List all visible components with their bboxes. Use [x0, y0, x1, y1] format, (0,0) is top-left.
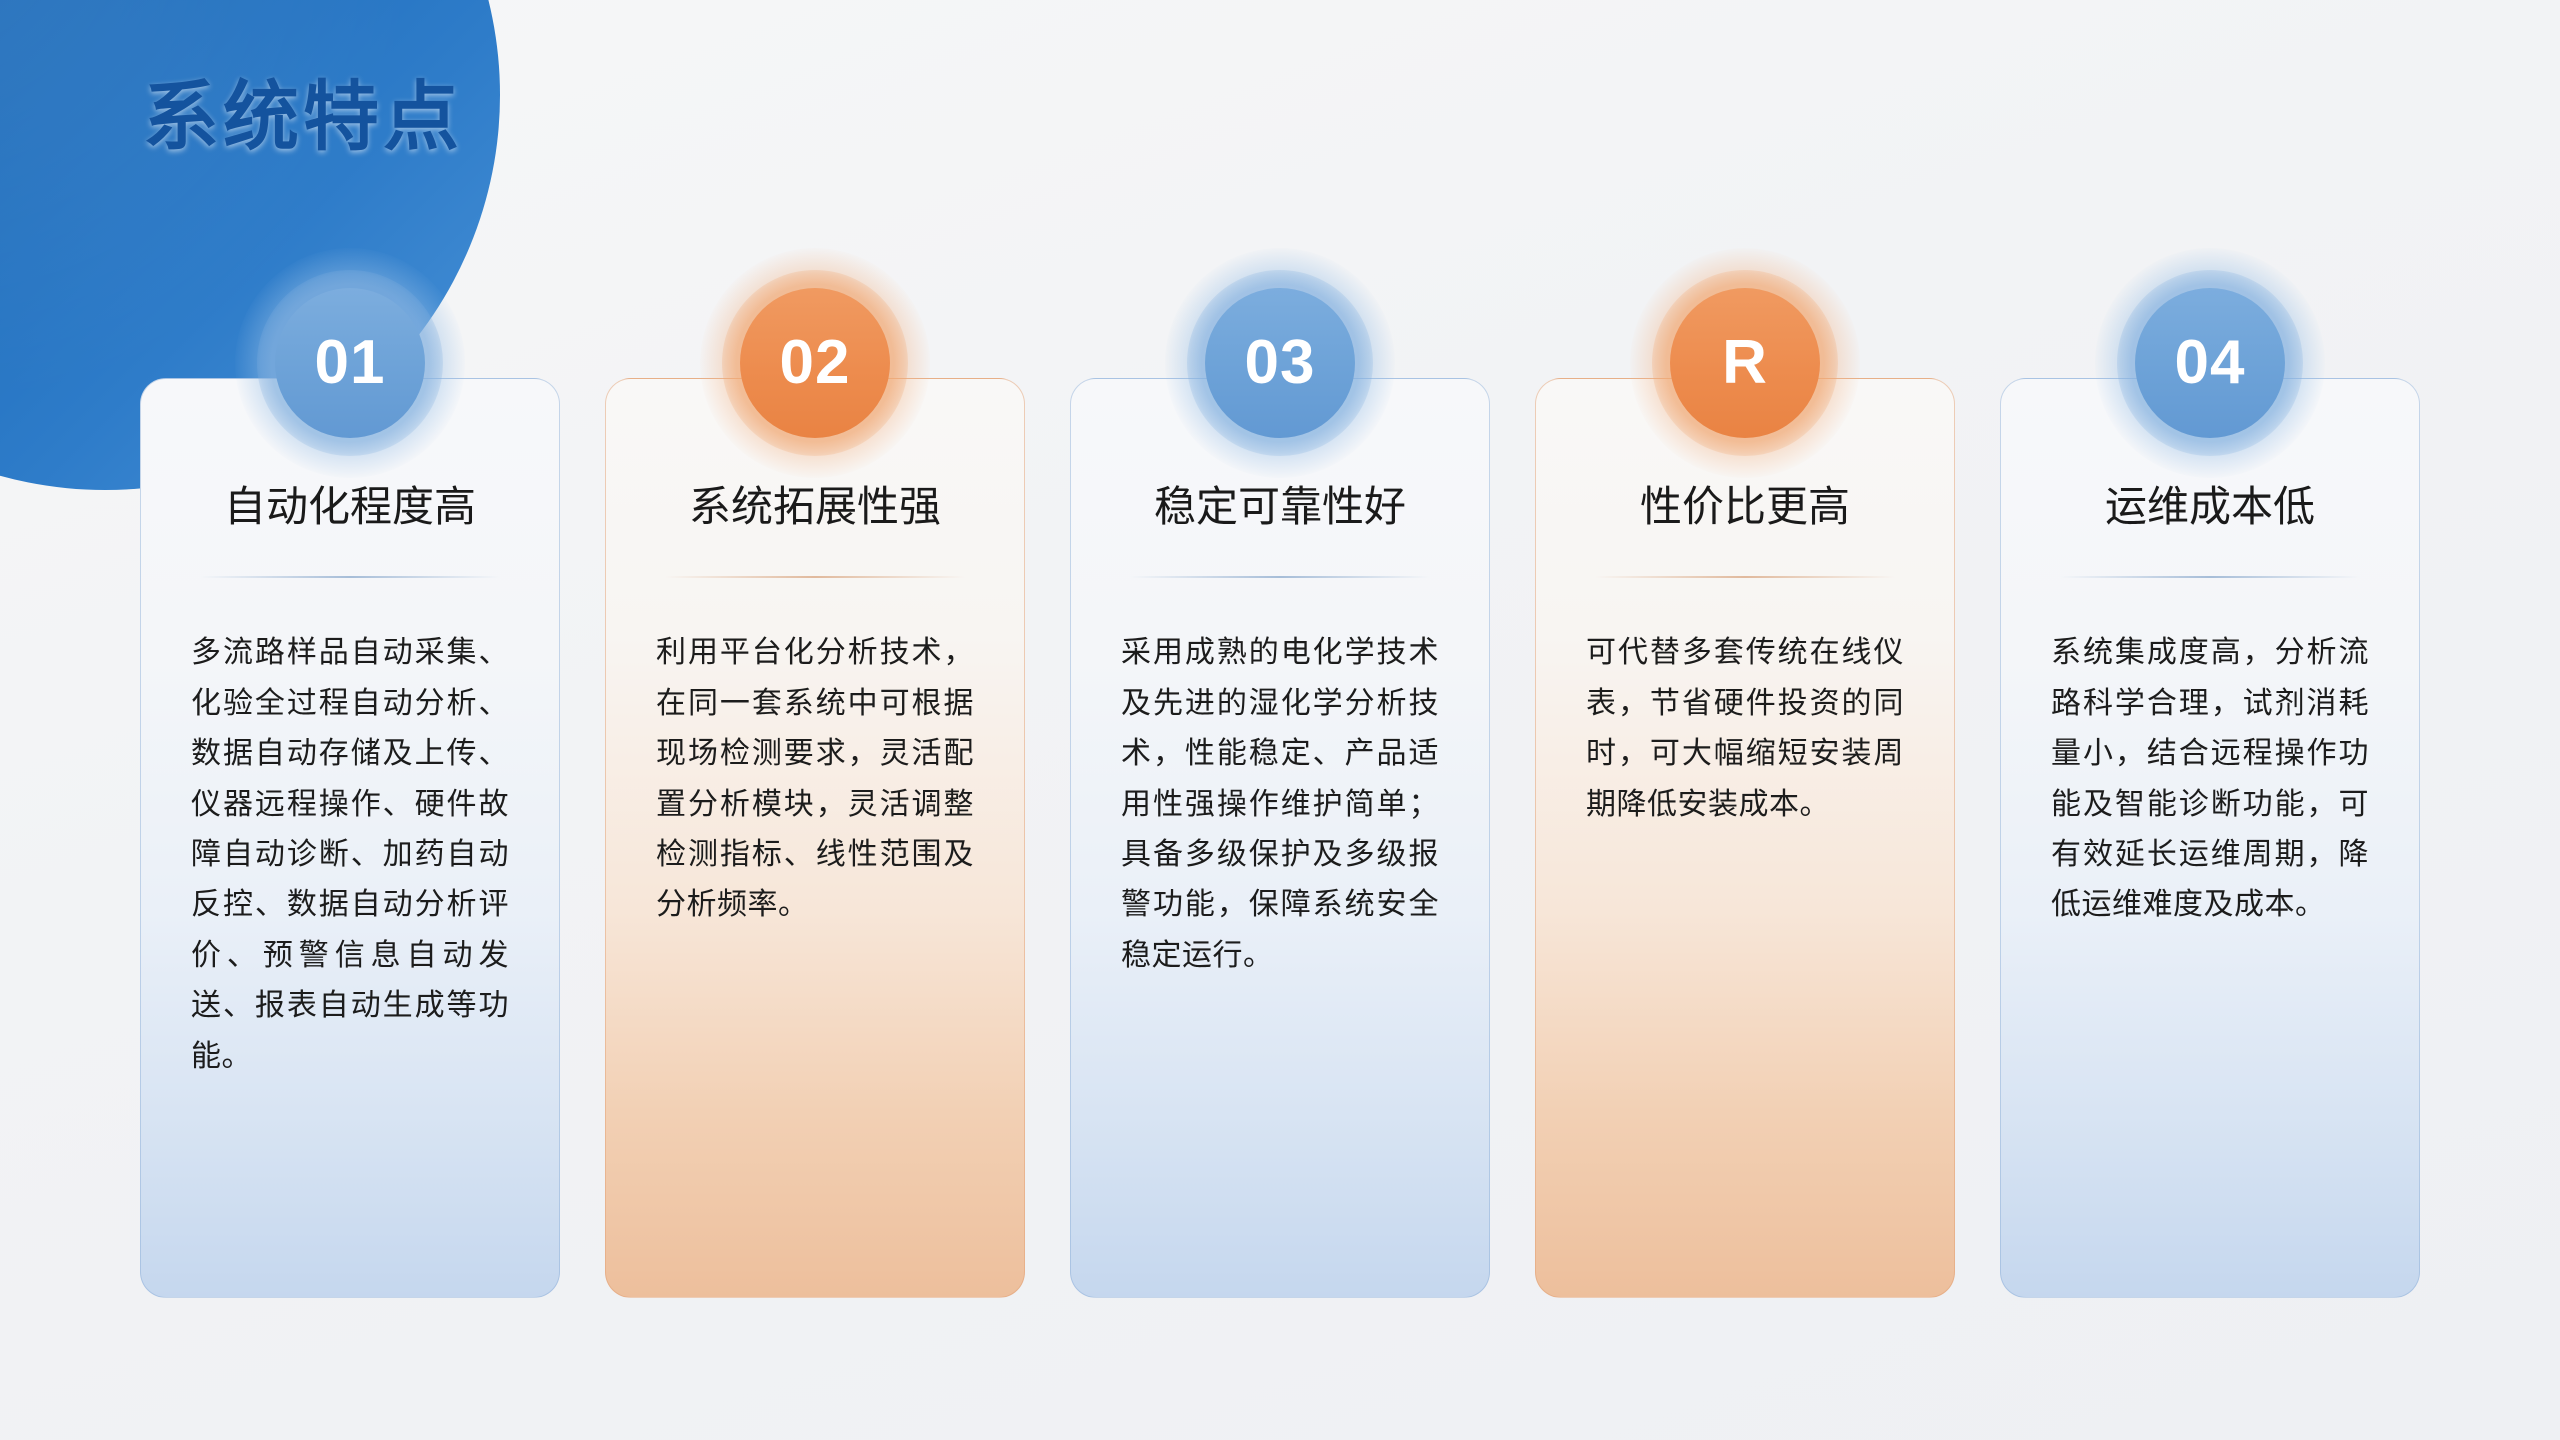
feature-card[interactable]: 01 自动化程度高 多流路样品自动采集、化验全过程自动分析、数据自动存储及上传、…: [140, 378, 560, 1298]
card-body: 自动化程度高 多流路样品自动采集、化验全过程自动分析、数据自动存储及上传、仪器远…: [140, 378, 560, 1298]
card-divider: [1595, 576, 1895, 578]
feature-card[interactable]: 04 运维成本低 系统集成度高，分析流路科学合理，试剂消耗量小，结合远程操作功能…: [2000, 378, 2420, 1298]
card-divider: [1130, 576, 1430, 578]
card-description: 多流路样品自动采集、化验全过程自动分析、数据自动存储及上传、仪器远程操作、硬件故…: [191, 628, 509, 1082]
card-title: 运维成本低: [2105, 482, 2315, 532]
card-body: 稳定可靠性好 采用成熟的电化学技术及先进的湿化学分析技术，性能稳定、产品适用性强…: [1070, 378, 1490, 1298]
feature-card[interactable]: R 性价比更高 可代替多套传统在线仪表，节省硬件投资的同时，可大幅缩短安装周期降…: [1535, 378, 1955, 1298]
slide-canvas: 系统特点 01 自动化程度高 多流路样品自动采集、化验全过程自动分析、数据自动存…: [0, 0, 2560, 1440]
card-title: 稳定可靠性好: [1154, 482, 1406, 532]
feature-card-list: 01 自动化程度高 多流路样品自动采集、化验全过程自动分析、数据自动存储及上传、…: [140, 378, 2420, 1298]
card-divider: [665, 576, 965, 578]
card-body: 系统拓展性强 利用平台化分析技术，在同一套系统中可根据现场检测要求，灵活配置分析…: [605, 378, 1025, 1298]
card-divider: [200, 576, 500, 578]
card-title: 自动化程度高: [224, 482, 476, 532]
card-title: 系统拓展性强: [689, 482, 941, 532]
feature-card[interactable]: 03 稳定可靠性好 采用成熟的电化学技术及先进的湿化学分析技术，性能稳定、产品适…: [1070, 378, 1490, 1298]
feature-card[interactable]: 02 系统拓展性强 利用平台化分析技术，在同一套系统中可根据现场检测要求，灵活配…: [605, 378, 1025, 1298]
page-title: 系统特点: [143, 80, 463, 156]
card-description: 系统集成度高，分析流路科学合理，试剂消耗量小，结合远程操作功能及智能诊断功能，可…: [2051, 628, 2369, 930]
card-description: 采用成熟的电化学技术及先进的湿化学分析技术，性能稳定、产品适用性强操作维护简单；…: [1121, 628, 1439, 981]
card-title: 性价比更高: [1640, 482, 1850, 532]
card-body: 运维成本低 系统集成度高，分析流路科学合理，试剂消耗量小，结合远程操作功能及智能…: [2000, 378, 2420, 1298]
card-description: 可代替多套传统在线仪表，节省硬件投资的同时，可大幅缩短安装周期降低安装成本。: [1586, 628, 1904, 830]
card-body: 性价比更高 可代替多套传统在线仪表，节省硬件投资的同时，可大幅缩短安装周期降低安…: [1535, 378, 1955, 1298]
card-divider: [2060, 576, 2360, 578]
card-description: 利用平台化分析技术，在同一套系统中可根据现场检测要求，灵活配置分析模块，灵活调整…: [656, 628, 974, 930]
